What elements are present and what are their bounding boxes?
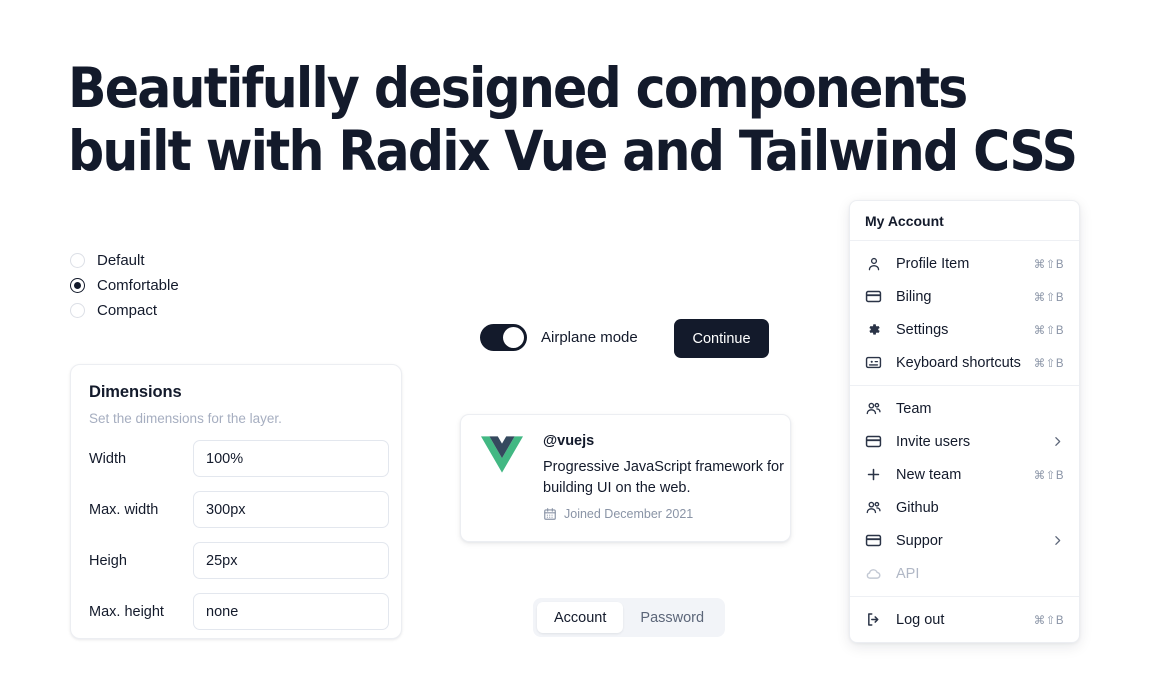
- hover-card-joined: Joined December 2021: [543, 507, 788, 521]
- menu-item-invite-users[interactable]: Invite users: [850, 425, 1079, 458]
- menu-item-github[interactable]: Github: [850, 491, 1079, 524]
- hover-card-handle: @vuejs: [543, 433, 788, 449]
- continue-button[interactable]: Continue: [674, 319, 769, 358]
- page-root: Beautifully designed components built wi…: [0, 0, 1152, 700]
- radio-indicator[interactable]: [70, 278, 85, 293]
- menu-item-label: Suppor: [896, 533, 1051, 549]
- dimensions-card-title: Dimensions: [89, 383, 383, 402]
- users-icon: [865, 499, 882, 516]
- dimension-input-max-height[interactable]: [193, 593, 389, 630]
- menu-section: TeamInvite usersNew team⌘⇧BGithubSupporA…: [850, 386, 1079, 596]
- airplane-mode-label: Airplane mode: [541, 329, 638, 346]
- dimension-label-heigh: Heigh: [89, 553, 193, 569]
- menu-item-label: Profile Item: [896, 256, 1034, 272]
- page-title: Beautifully designed components built wi…: [68, 57, 988, 183]
- user-icon: [865, 255, 882, 272]
- switch-knob: [503, 327, 524, 348]
- menu-item-label: API: [896, 566, 1064, 582]
- dimension-field-row: Max. width: [89, 491, 383, 528]
- menu-section: Profile Item⌘⇧BBiling⌘⇧BSettings⌘⇧BKeybo…: [850, 241, 1079, 385]
- radio-indicator[interactable]: [70, 303, 85, 318]
- menu-item-label: Github: [896, 500, 1064, 516]
- menu-item-api: API: [850, 557, 1079, 590]
- menu-item-shortcut: ⌘⇧B: [1034, 468, 1064, 482]
- hover-card-body: @vuejs Progressive JavaScript framework …: [543, 433, 788, 523]
- menu-item-log-out[interactable]: Log out⌘⇧B: [850, 603, 1079, 636]
- radio-option-compact[interactable]: Compact: [70, 298, 179, 323]
- keyboard-icon: [865, 354, 882, 371]
- menu-item-label: Keyboard shortcuts: [896, 355, 1034, 371]
- users-icon: [865, 400, 882, 417]
- dimension-input-heigh[interactable]: [193, 542, 389, 579]
- dimension-input-max-width[interactable]: [193, 491, 389, 528]
- menu-sections: Profile Item⌘⇧BBiling⌘⇧BSettings⌘⇧BKeybo…: [850, 240, 1079, 642]
- dimension-field-row: Width: [89, 440, 383, 477]
- menu-item-biling[interactable]: Biling⌘⇧B: [850, 280, 1079, 313]
- calendar-icon: [543, 507, 557, 521]
- cloud-icon: [865, 565, 882, 582]
- menu-item-suppor[interactable]: Suppor: [850, 524, 1079, 557]
- menu-item-label: New team: [896, 467, 1034, 483]
- radio-option-label: Compact: [97, 303, 157, 318]
- vue-hover-card: @vuejs Progressive JavaScript framework …: [460, 414, 791, 542]
- menu-item-new-team[interactable]: New team⌘⇧B: [850, 458, 1079, 491]
- dimensions-card-subtitle: Set the dimensions for the layer.: [89, 411, 383, 426]
- hover-card-description: Progressive JavaScript framework for bui…: [543, 457, 788, 499]
- page-title-line-1: Beautifully designed components: [68, 57, 988, 120]
- airplane-mode-switch[interactable]: [480, 324, 527, 351]
- account-dropdown-menu: My Account Profile Item⌘⇧BBiling⌘⇧BSetti…: [849, 200, 1080, 643]
- menu-item-keyboard-shortcuts[interactable]: Keyboard shortcuts⌘⇧B: [850, 346, 1079, 379]
- menu-item-shortcut: ⌘⇧B: [1034, 356, 1064, 370]
- menu-header-my-account: My Account: [850, 201, 1079, 240]
- credit-card-icon: [865, 288, 882, 305]
- settings-tabs: AccountPassword: [533, 598, 725, 637]
- vue-logo-icon: [481, 436, 523, 473]
- menu-item-shortcut: ⌘⇧B: [1034, 323, 1064, 337]
- logout-icon: [865, 611, 882, 628]
- radio-option-comfortable[interactable]: Comfortable: [70, 273, 179, 298]
- menu-item-profile-item[interactable]: Profile Item⌘⇧B: [850, 247, 1079, 280]
- tab-password[interactable]: Password: [623, 602, 721, 633]
- chevron-right-icon: [1051, 534, 1064, 547]
- menu-item-shortcut: ⌘⇧B: [1034, 290, 1064, 304]
- gear-icon: [865, 321, 882, 338]
- hover-card-joined-text: Joined December 2021: [564, 507, 693, 521]
- density-radio-group: DefaultComfortableCompact: [70, 248, 179, 323]
- radio-option-label: Comfortable: [97, 278, 179, 293]
- credit-card-icon: [865, 433, 882, 450]
- menu-section: Log out⌘⇧B: [850, 597, 1079, 642]
- dimension-label-width: Width: [89, 451, 193, 467]
- chevron-right-icon: [1051, 435, 1064, 448]
- menu-item-settings[interactable]: Settings⌘⇧B: [850, 313, 1079, 346]
- radio-option-label: Default: [97, 253, 145, 268]
- credit-card-icon: [865, 532, 882, 549]
- dimensions-card: Dimensions Set the dimensions for the la…: [70, 364, 402, 639]
- menu-item-label: Log out: [896, 612, 1034, 628]
- menu-item-team[interactable]: Team: [850, 392, 1079, 425]
- menu-item-shortcut: ⌘⇧B: [1034, 257, 1064, 271]
- page-title-line-2: built with Radix Vue and Tailwind CSS: [68, 120, 988, 183]
- dimension-label-max-width: Max. width: [89, 502, 193, 518]
- dimension-field-row: Heigh: [89, 542, 383, 579]
- airplane-mode-row: Airplane mode: [480, 324, 638, 351]
- menu-item-label: Team: [896, 401, 1064, 417]
- plus-icon: [865, 466, 882, 483]
- dimension-field-row: Max. height: [89, 593, 383, 630]
- menu-item-label: Biling: [896, 289, 1034, 305]
- dimension-label-max-height: Max. height: [89, 604, 193, 620]
- tab-account[interactable]: Account: [537, 602, 623, 633]
- menu-item-shortcut: ⌘⇧B: [1034, 613, 1064, 627]
- radio-option-default[interactable]: Default: [70, 248, 179, 273]
- dimensions-fields: WidthMax. widthHeighMax. height: [89, 440, 383, 630]
- menu-item-label: Settings: [896, 322, 1034, 338]
- dimension-input-width[interactable]: [193, 440, 389, 477]
- radio-indicator[interactable]: [70, 253, 85, 268]
- menu-item-label: Invite users: [896, 434, 1051, 450]
